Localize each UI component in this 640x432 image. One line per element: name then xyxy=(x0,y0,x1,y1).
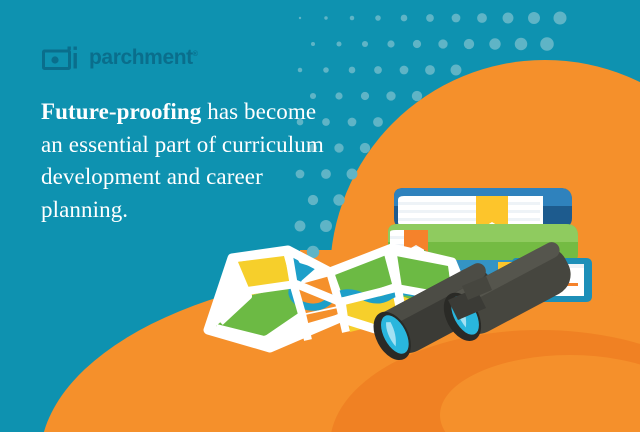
trademark-symbol: ® xyxy=(193,51,198,58)
headline-emphasis: Future-proofing xyxy=(41,99,201,124)
headline: Future-proofing has become an essential … xyxy=(41,96,341,227)
parchment-mark-icon xyxy=(42,44,82,70)
brand-logo[interactable]: parchment® xyxy=(42,42,198,72)
brand-wordmark: parchment® xyxy=(89,47,198,68)
promo-banner: parchment® Future-proofing has become an… xyxy=(0,0,640,432)
wordmark-text: parchment xyxy=(89,46,193,69)
